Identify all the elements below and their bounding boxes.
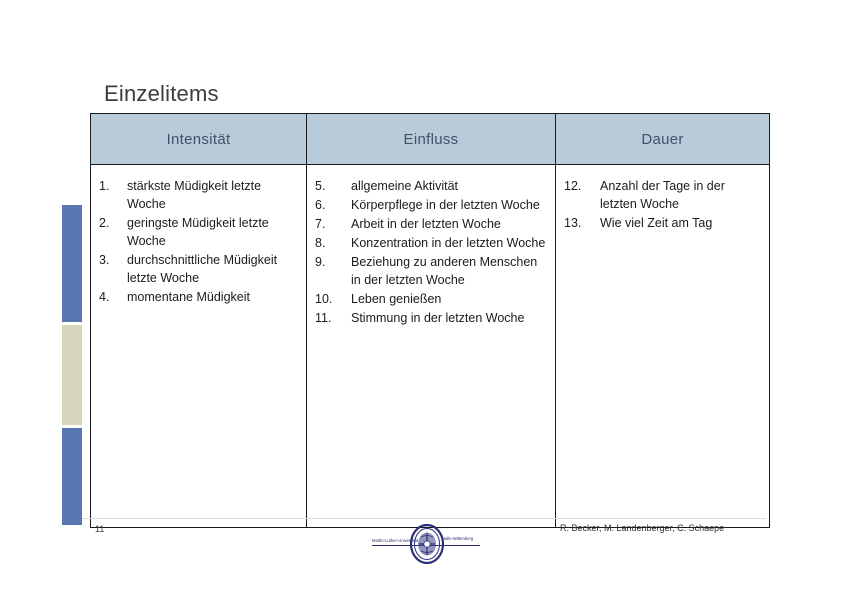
list-item: 6. Körperpflege in der letzten Woche [315,196,549,214]
list-item: 1. stärkste Müdigkeit letzte Woche [99,177,300,213]
cell-dauer: 12. Anzahl der Tage in der letzten Woche… [556,165,770,528]
item-text: Wie viel Zeit am Tag [600,214,763,232]
column-header-dauer: Dauer [556,114,770,165]
item-text: geringste Müdigkeit letzte Woche [127,214,300,250]
list-item: 8. Konzentration in der letzten Woche [315,234,549,252]
list-item: 13. Wie viel Zeit am Tag [564,214,763,232]
table-body: 1. stärkste Müdigkeit letzte Woche 2. ge… [91,165,770,528]
item-text: Stimmung in der letzten Woche [351,309,549,327]
list-item: 2. geringste Müdigkeit letzte Woche [99,214,300,250]
item-text: Leben genießen [351,290,549,308]
item-number: 8. [315,234,351,252]
item-number: 1. [99,177,127,213]
page-title: Einzelitems [104,80,219,108]
table-header-row: Intensität Einfluss Dauer [91,114,770,165]
cell-einfluss: 5. allgemeine Aktivität 6. Körperpflege … [307,165,556,528]
table-row: 1. stärkste Müdigkeit letzte Woche 2. ge… [91,165,770,528]
sidebar-bar-khaki-middle [62,325,82,425]
list-item: 12. Anzahl der Tage in der letzten Woche [564,177,763,213]
list-item: 7. Arbeit in der letzten Woche [315,215,549,233]
item-text: allgemeine Aktivität [351,177,549,195]
sidebar-bar-blue-bottom [62,428,82,525]
list-item: 3. durchschnittliche Müdigkeit letzte Wo… [99,251,300,287]
list-item: 9. Beziehung zu anderen Menschen in der … [315,253,549,289]
item-number: 13. [564,214,600,232]
list-item: 5. allgemeine Aktivität [315,177,549,195]
item-text: momentane Müdigkeit [127,288,300,306]
list-item: 10. Leben genießen [315,290,549,308]
university-seal-icon [410,524,444,564]
item-text: Anzahl der Tage in der letzten Woche [600,177,763,213]
page-number: 11 [95,524,104,534]
author-credits: R. Becker, M. Landenberger, C. Schaepe [560,523,724,533]
item-number: 5. [315,177,351,195]
logo-text-left: Martin-Luther-Universität [372,538,412,543]
item-number: 3. [99,251,127,287]
item-number: 11. [315,309,351,327]
footer-divider [82,518,766,519]
item-number: 7. [315,215,351,233]
einzelitems-table: Intensität Einfluss Dauer 1. stärkste Mü… [90,113,770,528]
column-header-einfluss: Einfluss [307,114,556,165]
logo-text-right: Halle-Wittenberg [442,536,482,541]
sidebar-decorative-bars [62,205,82,525]
cell-intensitaet: 1. stärkste Müdigkeit letzte Woche 2. ge… [91,165,307,528]
item-text: Arbeit in der letzten Woche [351,215,549,233]
list-item: 4. momentane Müdigkeit [99,288,300,306]
item-number: 9. [315,253,351,289]
item-number: 2. [99,214,127,250]
item-text: stärkste Müdigkeit letzte Woche [127,177,300,213]
item-number: 4. [99,288,127,306]
list-item: 11. Stimmung in der letzten Woche [315,309,549,327]
sidebar-bar-blue-top [62,205,82,322]
column-header-intensitaet: Intensität [91,114,307,165]
item-number: 12. [564,177,600,213]
item-list-dauer: 12. Anzahl der Tage in der letzten Woche… [564,177,763,232]
item-text: Konzentration in der letzten Woche [351,234,549,252]
item-list-intensitaet: 1. stärkste Müdigkeit letzte Woche 2. ge… [99,177,300,306]
item-number: 10. [315,290,351,308]
item-text: Körperpflege in der letzten Woche [351,196,549,214]
item-text: durchschnittliche Müdigkeit letzte Woche [127,251,300,287]
item-text: Beziehung zu anderen Menschen in der let… [351,253,549,289]
university-logo: Martin-Luther-Universität Halle-Wittenbe… [372,524,480,564]
item-number: 6. [315,196,351,214]
item-list-einfluss: 5. allgemeine Aktivität 6. Körperpflege … [315,177,549,327]
